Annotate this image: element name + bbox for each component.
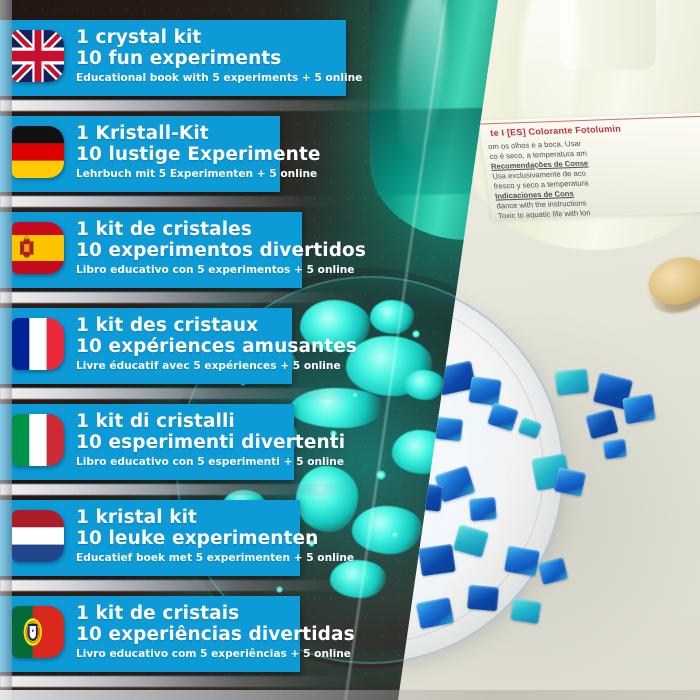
banner-subtext: Livre éducatif avec 5 expériences + 5 on…	[76, 359, 288, 373]
banner-headline-secondary: 10 expériences amusantes	[76, 336, 288, 357]
blue-crystal	[603, 439, 627, 460]
banner-separator-strip	[0, 388, 362, 399]
language-banner-french: 1 kit des cristaux10 expériences amusant…	[0, 308, 292, 384]
language-banner-german: 1 Kristall-Kit10 lustige ExperimenteLehr…	[0, 116, 280, 192]
glow-sparkle	[390, 530, 399, 539]
banner-subtext: Livro educativo com 5 experiências + 5 o…	[76, 647, 296, 661]
banner-separator-strip	[0, 676, 370, 687]
banner-headline-primary: 1 kit di cristalli	[76, 411, 290, 432]
banner-text-block: 1 Kristall-Kit10 lustige ExperimenteLehr…	[76, 123, 276, 181]
banner-headline-primary: 1 kristal kit	[76, 507, 296, 528]
label-line: fresco y seco a temperatura	[493, 179, 589, 191]
flag-france	[12, 318, 64, 370]
banner-subtext: Libro educativo con 5 esperimenti + 5 on…	[76, 455, 290, 469]
glowing-crystal	[370, 300, 414, 334]
banner-subtext: Lehrbuch mit 5 Experimenten + 5 online	[76, 167, 276, 181]
banner-subtext: Educational book with 5 experiments + 5 …	[76, 71, 342, 85]
language-banner-italian: 1 kit di cristalli10 esperimenti diverte…	[0, 404, 294, 480]
language-banner-english: 1 crystal kit10 fun experimentsEducation…	[0, 20, 346, 96]
bottle-product-label: te I [ES] Colorante Fotolumin om os olho…	[478, 112, 700, 219]
banner-headline-secondary: 10 experimentos divertidos	[76, 240, 298, 261]
flag-germany	[12, 126, 64, 178]
banner-headline-secondary: 10 fun experiments	[76, 48, 342, 69]
banner-headline-secondary: 10 esperimenti divertenti	[76, 432, 290, 453]
banner-separator-strip	[0, 580, 370, 591]
banner-headline-primary: 1 kit des cristaux	[76, 315, 288, 336]
blue-crystal	[622, 394, 656, 424]
language-banner-dutch: 1 kristal kit10 leuke experimentenEducat…	[0, 500, 300, 576]
banner-headline-primary: 1 kit de cristais	[76, 603, 296, 624]
banner-headline-secondary: 10 lustige Experimente	[76, 144, 276, 165]
banner-text-block: 1 kit de cristales10 experimentos divert…	[76, 219, 298, 277]
blue-crystal	[418, 544, 456, 576]
flag-united-kingdom	[12, 30, 64, 82]
banner-headline-secondary: 10 leuke experimenten	[76, 528, 296, 549]
banner-separator-strip	[0, 292, 372, 303]
banner-headline-secondary: 10 experiências divertidas	[76, 624, 296, 645]
banner-subtext: Libro educativo con 5 experimentos + 5 o…	[76, 263, 298, 277]
product-image-canvas: te I [ES] Colorante Fotolumin om os olho…	[0, 0, 700, 700]
banner-text-block: 1 kristal kit10 leuke experimentenEducat…	[76, 507, 296, 565]
blue-crystal	[469, 497, 497, 521]
banner-text-block: 1 kit di cristalli10 esperimenti diverte…	[76, 411, 290, 469]
blue-crystal	[435, 417, 463, 442]
flag-spain	[12, 222, 64, 274]
blue-crystal	[504, 545, 540, 576]
language-banner-spanish: 1 kit de cristales10 experimentos divert…	[0, 212, 302, 288]
blue-crystal	[467, 585, 499, 612]
flag-portugal	[12, 606, 64, 658]
banner-subtext: Educatief boek met 5 experimenten + 5 on…	[76, 551, 296, 565]
banner-text-block: 1 kit de cristais10 experiências diverti…	[76, 603, 296, 661]
blue-crystal	[555, 368, 589, 395]
label-heading: te I [ES] Colorante Fotolumin	[490, 124, 622, 138]
glowing-crystal	[404, 370, 444, 400]
glowing-crystal	[296, 466, 358, 532]
banner-text-block: 1 crystal kit10 fun experimentsEducation…	[76, 27, 342, 85]
banner-separator-strip	[0, 484, 364, 495]
flag-netherlands	[12, 510, 64, 562]
language-banner-portuguese: 1 kit de cristais10 experiências diverti…	[0, 596, 300, 672]
banner-separator-strip	[0, 100, 416, 111]
bottom-silver-rail	[0, 690, 700, 700]
flag-italy	[12, 414, 64, 466]
glowing-crystal	[352, 506, 422, 554]
banner-headline-primary: 1 crystal kit	[76, 27, 342, 48]
blue-crystal	[510, 598, 541, 624]
banner-separator-strip	[0, 196, 350, 207]
left-silver-rail	[0, 0, 12, 700]
blue-crystal	[468, 376, 501, 406]
banner-text-block: 1 kit des cristaux10 expériences amusant…	[76, 315, 288, 373]
glow-sparkle	[412, 330, 420, 338]
banner-headline-primary: 1 kit de cristales	[76, 219, 298, 240]
banner-headline-primary: 1 Kristall-Kit	[76, 123, 276, 144]
